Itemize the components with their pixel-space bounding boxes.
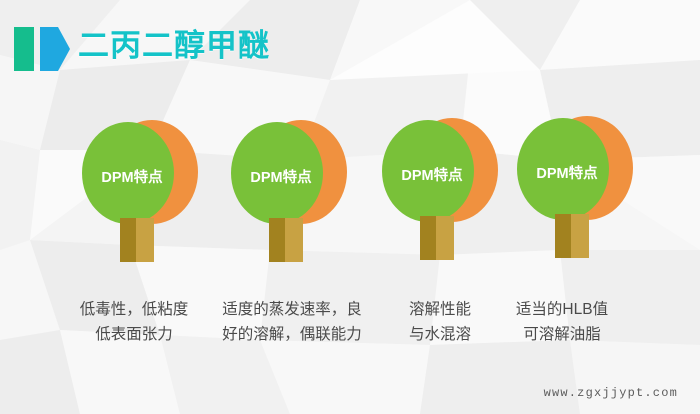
feature-caption: 适当的HLB值 可溶解油脂 [487,297,637,347]
caption-line-2: 好的溶解，偶联能力 [192,322,392,347]
feature-tree: DPM特点 [378,118,498,264]
watermark-url: www.zgxjjypt.com [544,386,678,400]
logo-arrow-icon [40,27,70,71]
slide-canvas: 二丙二醇甲醚 DPM特点 DPM特点 DPM特点 DPM特点 低毒性，低粘度 低… [0,0,700,414]
tree-trunk-dark-icon [420,216,436,260]
tree-label: DPM特点 [86,166,178,187]
tree-label: DPM特点 [235,166,327,187]
tree-trunk-light-icon [436,216,454,260]
tree-trunk-light-icon [136,218,154,262]
tree-label: DPM特点 [386,164,478,185]
feature-tree: DPM特点 [78,120,198,266]
logo-square-icon [14,27,34,71]
tree-trunk-light-icon [285,218,303,262]
feature-tree: DPM特点 [513,116,633,262]
caption-line-1: 适当的HLB值 [487,297,637,322]
tree-trunk-dark-icon [269,218,285,262]
slide-header: 二丙二醇甲醚 [0,0,700,86]
feature-tree: DPM特点 [227,120,347,266]
tree-trunk-light-icon [571,214,589,258]
feature-caption: 适度的蒸发速率，良 好的溶解，偶联能力 [192,297,392,347]
tree-trunk-dark-icon [120,218,136,262]
tree-trunk-dark-icon [555,214,571,258]
caption-line-2: 可溶解油脂 [487,322,637,347]
logo-icon [14,27,70,71]
caption-line-1: 适度的蒸发速率，良 [192,297,392,322]
page-title: 二丙二醇甲醚 [78,24,270,68]
tree-label: DPM特点 [521,162,613,183]
